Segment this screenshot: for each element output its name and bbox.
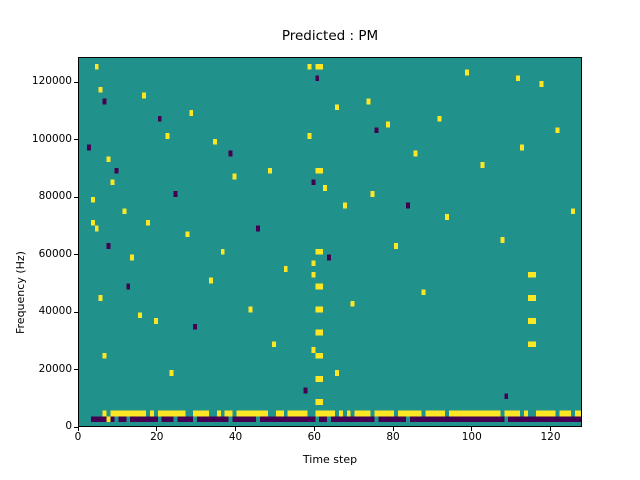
x-tick-label: 20 bbox=[117, 432, 197, 443]
x-axis-label: Time step bbox=[78, 453, 582, 466]
x-tick-mark bbox=[550, 427, 551, 431]
y-tick-mark bbox=[74, 369, 78, 370]
x-tick-label: 80 bbox=[353, 432, 433, 443]
y-tick-label: 100000 bbox=[32, 134, 72, 145]
x-tick-label: 120 bbox=[511, 432, 591, 443]
heatmap-plot-area[interactable] bbox=[78, 57, 582, 427]
x-tick-mark bbox=[471, 427, 472, 431]
y-tick-label: 20000 bbox=[39, 364, 72, 375]
x-tick-mark bbox=[235, 427, 236, 431]
x-tick-label: 100 bbox=[432, 432, 512, 443]
x-tick-mark bbox=[78, 427, 79, 431]
x-tick-mark bbox=[314, 427, 315, 431]
matplotlib-figure: Predicted : PM Time step Frequency (Hz) … bbox=[0, 0, 640, 480]
x-tick-label: 0 bbox=[38, 432, 118, 443]
heatmap-image bbox=[79, 58, 582, 427]
y-tick-label: 0 bbox=[65, 421, 72, 432]
y-tick-label: 60000 bbox=[39, 249, 72, 260]
x-tick-mark bbox=[156, 427, 157, 431]
y-tick-mark bbox=[74, 197, 78, 198]
y-tick-mark bbox=[74, 139, 78, 140]
y-tick-mark bbox=[74, 254, 78, 255]
page-title: Predicted : PM bbox=[78, 27, 582, 45]
y-axis-label: Frequency (Hz) bbox=[14, 251, 27, 334]
x-tick-label: 40 bbox=[196, 432, 276, 443]
y-tick-mark bbox=[74, 312, 78, 313]
y-tick-label: 80000 bbox=[39, 191, 72, 202]
x-tick-label: 60 bbox=[274, 432, 354, 443]
y-tick-label: 40000 bbox=[39, 306, 72, 317]
x-tick-mark bbox=[393, 427, 394, 431]
y-tick-label: 120000 bbox=[32, 76, 72, 87]
y-tick-mark bbox=[74, 82, 78, 83]
